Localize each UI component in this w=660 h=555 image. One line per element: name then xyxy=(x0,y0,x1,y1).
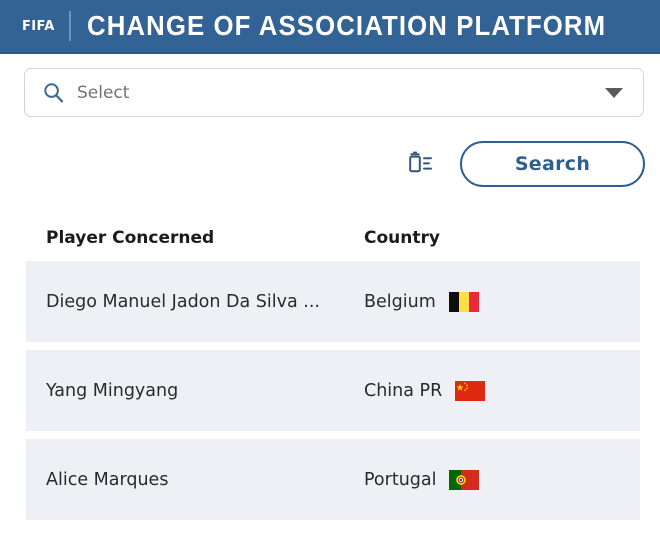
flag-china-icon xyxy=(455,381,485,401)
country-name: China PR xyxy=(364,381,442,401)
table-row[interactable]: Diego Manuel Jadon Da Silva ... Belgium xyxy=(26,261,640,342)
table-row[interactable]: Yang Mingyang China PR xyxy=(26,350,640,431)
page-title: CHANGE OF ASSOCIATION PLATFORM xyxy=(87,12,606,40)
cell-country: Belgium xyxy=(364,292,640,312)
cell-country: Portugal xyxy=(364,470,640,490)
search-select-input[interactable]: Select xyxy=(24,68,644,117)
search-row: Select xyxy=(24,68,644,117)
app-header: FIFA CHANGE OF ASSOCIATION PLATFORM xyxy=(0,0,660,54)
search-icon xyxy=(43,82,64,103)
trash-list-icon xyxy=(407,151,434,177)
country-name: Belgium xyxy=(364,292,436,312)
chevron-down-icon[interactable] xyxy=(605,88,623,98)
table-row[interactable]: Alice Marques Portugal xyxy=(26,439,640,520)
action-row: Search xyxy=(0,141,660,187)
results-table: Player Concerned Country Diego Manuel Ja… xyxy=(0,215,660,520)
cell-player-name: Alice Marques xyxy=(46,470,364,490)
flag-belgium-icon xyxy=(449,292,479,312)
search-placeholder: Select xyxy=(77,83,605,103)
clear-filters-button[interactable] xyxy=(403,147,438,181)
column-header-country: Country xyxy=(364,228,660,248)
flag-portugal-icon xyxy=(449,470,479,490)
cell-player-name: Diego Manuel Jadon Da Silva ... xyxy=(46,292,364,312)
country-name: Portugal xyxy=(364,470,436,490)
fifa-logo: FIFA xyxy=(22,20,69,33)
header-divider xyxy=(69,11,71,41)
table-header-row: Player Concerned Country xyxy=(0,215,660,261)
cell-player-name: Yang Mingyang xyxy=(46,381,364,401)
search-button[interactable]: Search xyxy=(460,141,645,187)
cell-country: China PR xyxy=(364,381,640,401)
column-header-player: Player Concerned xyxy=(46,228,364,248)
